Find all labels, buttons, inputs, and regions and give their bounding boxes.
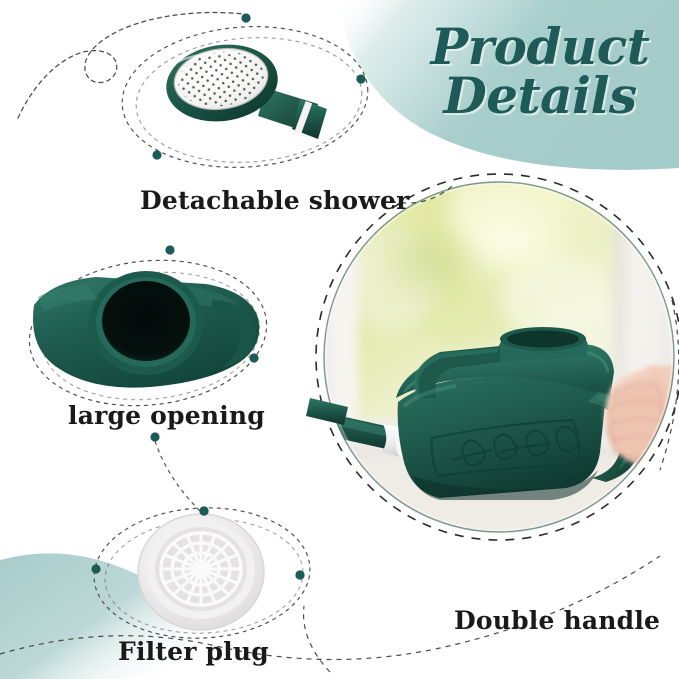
decor-dot	[249, 353, 258, 362]
decor-dot	[152, 150, 161, 159]
filter-plug-photo	[138, 514, 264, 630]
decor-dot	[165, 245, 174, 254]
decor-dot	[150, 432, 159, 441]
decor-dot	[356, 74, 365, 83]
decor-connector	[155, 441, 203, 514]
page-title: Product Details	[406, 22, 674, 152]
main-photo-scene	[292, 158, 679, 542]
shower-head-photo	[161, 38, 327, 139]
decor-dot	[199, 506, 208, 515]
title-line-2: Details	[406, 71, 674, 120]
callout-label-large-opening: large opening	[68, 403, 265, 428]
infographic-canvas: Product Details Detachable shower large …	[0, 0, 679, 679]
callout-label-filter-plug: Filter plug	[118, 639, 269, 664]
decor-dot	[91, 564, 100, 573]
decor-dot	[241, 13, 250, 22]
callout-label-detachable-shower: Detachable shower	[140, 188, 409, 213]
large-opening-photo	[33, 271, 259, 388]
callout-label-double-handle: Double handle	[454, 608, 660, 633]
decor-dot	[295, 570, 304, 579]
